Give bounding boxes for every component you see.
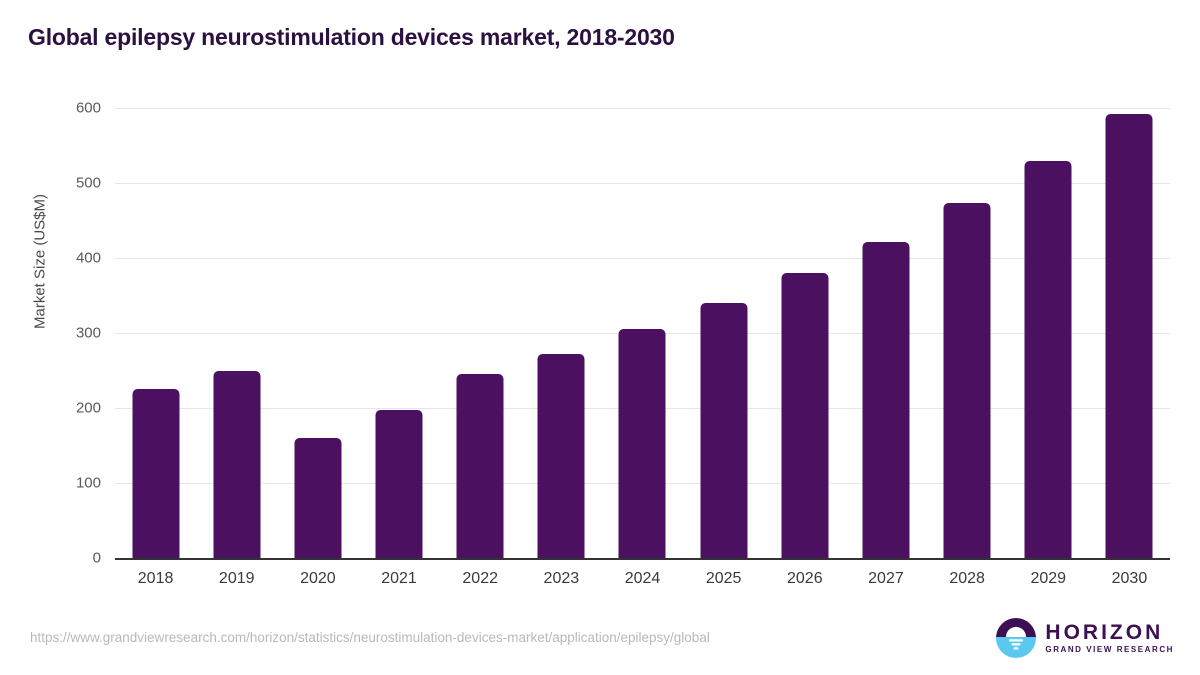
plot-area: 0100200300400500600 20182019202020212022… (115, 108, 1170, 558)
bar-2023[interactable] (538, 354, 585, 558)
x-tick-label: 2026 (787, 570, 823, 588)
x-tick-label: 2020 (300, 570, 336, 588)
x-tick-label: 2019 (219, 570, 255, 588)
logo-text: HORIZON GRAND VIEW RESEARCH (1045, 622, 1174, 654)
x-tick-label: 2027 (868, 570, 904, 588)
bar-slot (1008, 108, 1089, 558)
bar-2021[interactable] (376, 410, 423, 558)
bar-2026[interactable] (781, 273, 828, 558)
bar-slot (764, 108, 845, 558)
bar-2019[interactable] (213, 371, 260, 559)
y-tick-label: 0 (41, 550, 101, 567)
brand-logo: HORIZON GRAND VIEW RESEARCH (996, 618, 1174, 658)
logo-wordmark: HORIZON (1045, 622, 1174, 643)
y-tick-label: 500 (41, 175, 101, 192)
x-tick-label: 2022 (462, 570, 498, 588)
bar-slot (196, 108, 277, 558)
bar-series (115, 108, 1170, 558)
bar-slot (521, 108, 602, 558)
logo-subtitle: GRAND VIEW RESEARCH (1045, 646, 1174, 654)
bar-2030[interactable] (1106, 114, 1153, 558)
bar-2029[interactable] (1025, 161, 1072, 559)
bar-slot (602, 108, 683, 558)
bar-2022[interactable] (457, 374, 504, 558)
bar-2028[interactable] (944, 203, 991, 558)
bar-2027[interactable] (862, 242, 909, 559)
page-title: Global epilepsy neurostimulation devices… (28, 24, 675, 51)
x-tick-label: 2029 (1030, 570, 1066, 588)
x-tick-label: 2024 (625, 570, 661, 588)
bar-slot (927, 108, 1008, 558)
horizon-logo-icon (996, 618, 1036, 658)
y-tick-label: 200 (41, 400, 101, 417)
bar-slot (115, 108, 196, 558)
bar-slot (683, 108, 764, 558)
x-tick-label: 2021 (381, 570, 417, 588)
y-tick-label: 400 (41, 250, 101, 267)
bar-2024[interactable] (619, 329, 666, 558)
bar-slot (1089, 108, 1170, 558)
bar-2018[interactable] (132, 389, 179, 558)
bar-slot (358, 108, 439, 558)
x-tick-label: 2030 (1112, 570, 1148, 588)
x-tick-label: 2028 (949, 570, 985, 588)
bar-2025[interactable] (700, 303, 747, 558)
bar-slot (440, 108, 521, 558)
bar-slot (845, 108, 926, 558)
y-tick-label: 300 (41, 325, 101, 342)
x-axis-line (115, 558, 1170, 560)
source-url[interactable]: https://www.grandviewresearch.com/horizo… (30, 630, 710, 645)
chart-page: Global epilepsy neurostimulation devices… (0, 0, 1200, 675)
y-tick-label: 100 (41, 475, 101, 492)
x-tick-label: 2025 (706, 570, 742, 588)
y-tick-label: 600 (41, 100, 101, 117)
bar-slot (277, 108, 358, 558)
bar-2020[interactable] (294, 438, 341, 558)
x-tick-label: 2023 (544, 570, 580, 588)
x-tick-label: 2018 (138, 570, 174, 588)
